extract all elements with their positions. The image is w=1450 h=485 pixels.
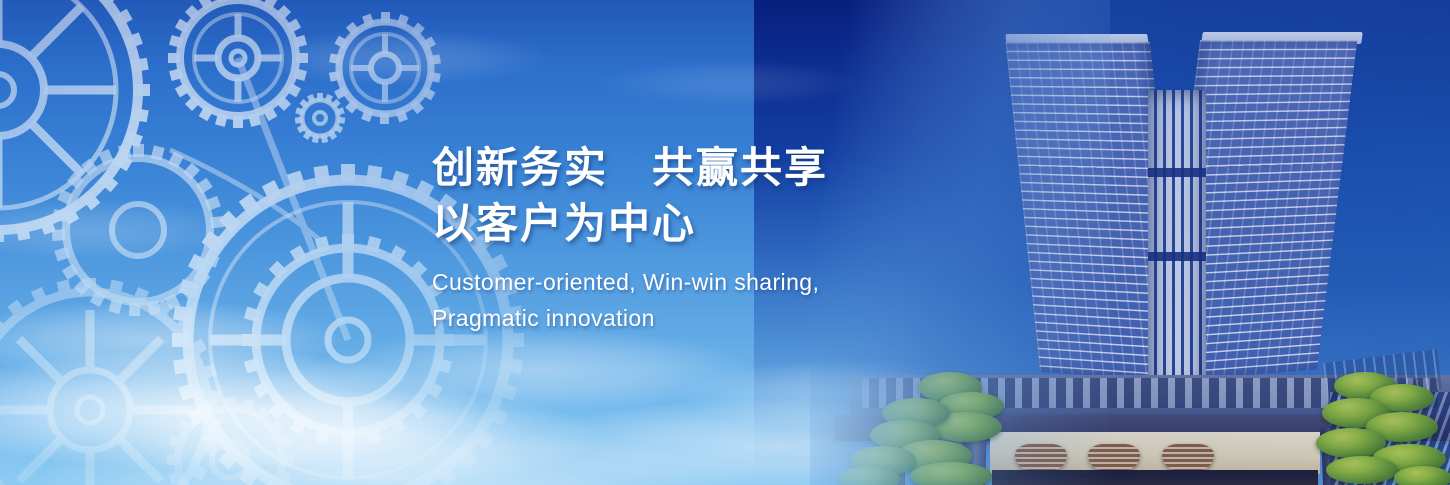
subline-line-2: Pragmatic innovation (432, 300, 992, 336)
entrance-light-fixture (1162, 444, 1214, 470)
subline-line-1: Customer-oriented, Win-win sharing, (432, 264, 992, 300)
banner-copy: 创新务实 共赢共享 以客户为中心 Customer-oriented, Win-… (432, 140, 992, 336)
core-band (1148, 252, 1206, 261)
headline-line-1: 创新务实 共赢共享 (432, 140, 992, 196)
entrance-light-fixture (1015, 444, 1067, 470)
tower-central-core (1148, 90, 1206, 390)
hero-banner: 创新务实 共赢共享 以客户为中心 Customer-oriented, Win-… (0, 0, 1450, 485)
entrance-light-fixture (1088, 444, 1140, 470)
core-band (1148, 168, 1206, 177)
headline-line-2: 以客户为中心 (432, 196, 992, 252)
entrance-glazing (992, 470, 1318, 485)
